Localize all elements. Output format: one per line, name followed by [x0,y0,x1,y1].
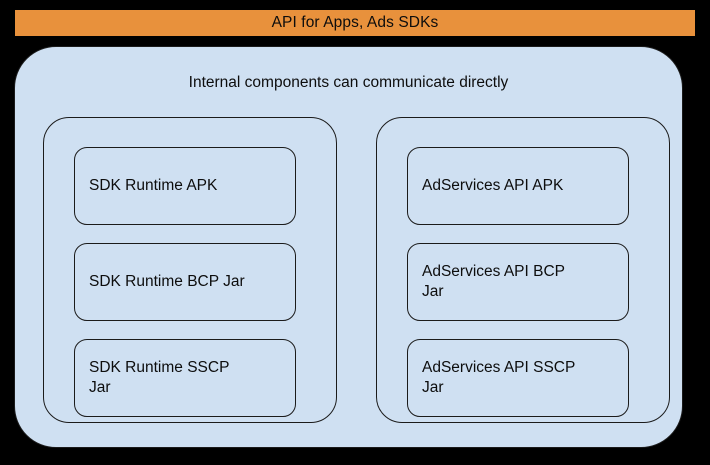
api-banner: API for Apps, Ads SDKs [15,10,695,36]
component-box-adservices-api-sscp-jar: AdServices API SSCP Jar [407,339,629,417]
component-label: AdServices API APK [408,176,628,196]
component-label: SDK Runtime APK [75,176,295,196]
outer-panel: Internal components can communicate dire… [14,46,683,448]
component-box-sdk-runtime-sscp-jar: SDK Runtime SSCP Jar [74,339,296,417]
group-sdk-runtime: SDK Runtime APK SDK Runtime BCP Jar SDK … [43,117,337,423]
component-box-adservices-api-apk: AdServices API APK [407,147,629,225]
component-box-sdk-runtime-apk: SDK Runtime APK [74,147,296,225]
diagram-canvas: API for Apps, Ads SDKs Internal componen… [0,0,710,465]
group-adservices-api: AdServices API APK AdServices API BCP Ja… [376,117,670,423]
component-label: SDK Runtime SSCP Jar [75,358,260,399]
component-label: AdServices API BCP Jar [408,262,593,303]
component-label: SDK Runtime BCP Jar [75,272,295,292]
component-box-adservices-api-bcp-jar: AdServices API BCP Jar [407,243,629,321]
component-label: AdServices API SSCP Jar [408,358,593,399]
panel-caption: Internal components can communicate dire… [15,75,682,91]
api-banner-label: API for Apps, Ads SDKs [272,15,439,31]
component-box-sdk-runtime-bcp-jar: SDK Runtime BCP Jar [74,243,296,321]
